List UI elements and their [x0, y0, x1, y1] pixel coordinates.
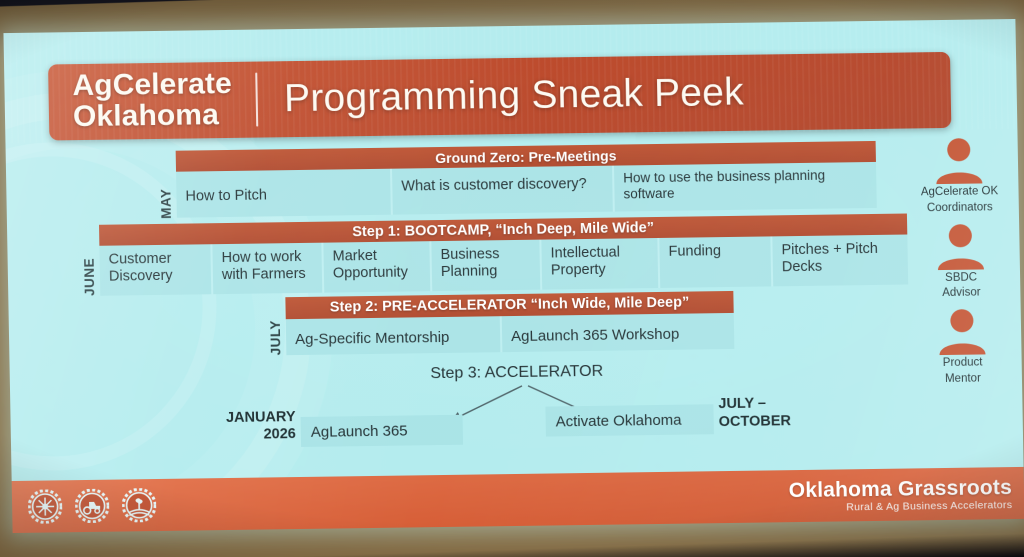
- role-label-line2: Mentor: [915, 372, 1011, 387]
- month-label-may: MAY: [158, 173, 174, 219]
- pre-accelerator-row: Ag-Specific Mentorship AgLaunch 365 Work…: [286, 313, 735, 355]
- accelerator-left-date: JANUARY 2026: [185, 409, 296, 445]
- bootcamp-cell: Funding: [659, 236, 773, 288]
- bootcamp-cell: Business Planning: [431, 240, 542, 292]
- projected-slide-photo: AgCelerate Oklahoma Programming Sneak Pe…: [0, 0, 1024, 557]
- person-icon: [935, 309, 990, 356]
- slide: AgCelerate Oklahoma Programming Sneak Pe…: [3, 19, 1024, 533]
- brand-title: AgCelerate Oklahoma: [48, 69, 253, 134]
- bootcamp-row: Customer Discovery How to work with Farm…: [99, 235, 908, 296]
- pre-accelerator-cell: AgLaunch 365 Workshop: [502, 313, 735, 352]
- bootcamp-cell: Pitches + Pitch Decks: [772, 235, 908, 287]
- accelerator-header: Step 3: ACCELERATOR: [402, 362, 632, 383]
- bootcamp-cell: How to work with Farmers: [212, 243, 324, 295]
- accelerator-right-date-line2: OCTOBER: [719, 412, 839, 432]
- accelerator-right-box: Activate Oklahoma: [545, 404, 714, 436]
- role-item: SBDC Advisor: [912, 223, 1009, 302]
- role-item: Product Mentor: [914, 308, 1011, 387]
- accelerator-right-date: JULY – OCTOBER: [718, 393, 839, 431]
- role-label-line2: Advisor: [913, 286, 1009, 301]
- pre-accelerator-cell: Ag-Specific Mentorship: [286, 316, 503, 355]
- title-divider: [256, 73, 259, 127]
- brand-title-line1: AgCelerate: [72, 69, 232, 102]
- footer-badges: [12, 488, 157, 524]
- ground-zero-cell: What is customer discovery?: [392, 166, 615, 215]
- slide-title-bar: AgCelerate Oklahoma Programming Sneak Pe…: [48, 52, 951, 141]
- month-label-june: JUNE: [81, 248, 97, 296]
- brand-tagline: Rural & Ag Business Accelerators: [789, 499, 1012, 514]
- page-title: Programming Sneak Peek: [262, 71, 744, 122]
- role-label-line1: SBDC: [913, 271, 1009, 286]
- bootcamp-cell: Customer Discovery: [99, 244, 213, 296]
- accelerator-left-date-line1: JANUARY: [185, 409, 295, 428]
- bootcamp-cell: Market Opportunity: [323, 241, 432, 292]
- sunburst-gear-badge-icon: [28, 489, 63, 523]
- accelerator-left-box: AgLaunch 365: [301, 415, 464, 447]
- role-label-line1: Product: [915, 356, 1011, 371]
- slide-surface: AgCelerate Oklahoma Programming Sneak Pe…: [3, 19, 1024, 533]
- accelerator-left-date-line2: 2026: [186, 426, 296, 445]
- person-icon: [932, 137, 987, 184]
- bootcamp-cell: Intellectual Property: [541, 238, 660, 290]
- role-item: AgCelerate OK Coordinators: [911, 137, 1008, 216]
- roles-legend: AgCelerate OK Coordinators SBDC Advisor: [911, 137, 1012, 395]
- footer-brand: Oklahoma Grassroots Rural & Ag Business …: [789, 475, 1024, 513]
- ground-zero-row: How to Pitch What is customer discovery?…: [176, 162, 877, 218]
- ground-zero-cell: How to Pitch: [176, 169, 393, 218]
- role-label-line1: AgCelerate OK: [911, 185, 1007, 200]
- tractor-gear-badge-icon: [75, 489, 110, 523]
- ground-zero-cell: How to use the business planning softwar…: [614, 162, 877, 212]
- accelerator-right-date-line1: JULY –: [718, 393, 838, 413]
- brand-title-line2: Oklahoma: [73, 100, 233, 133]
- role-label-line2: Coordinators: [912, 201, 1008, 216]
- plant-gear-badge-icon: [122, 488, 157, 522]
- person-icon: [933, 223, 988, 270]
- slide-footer: Oklahoma Grassroots Rural & Ag Business …: [12, 467, 1024, 533]
- month-label-july: JULY: [268, 320, 284, 355]
